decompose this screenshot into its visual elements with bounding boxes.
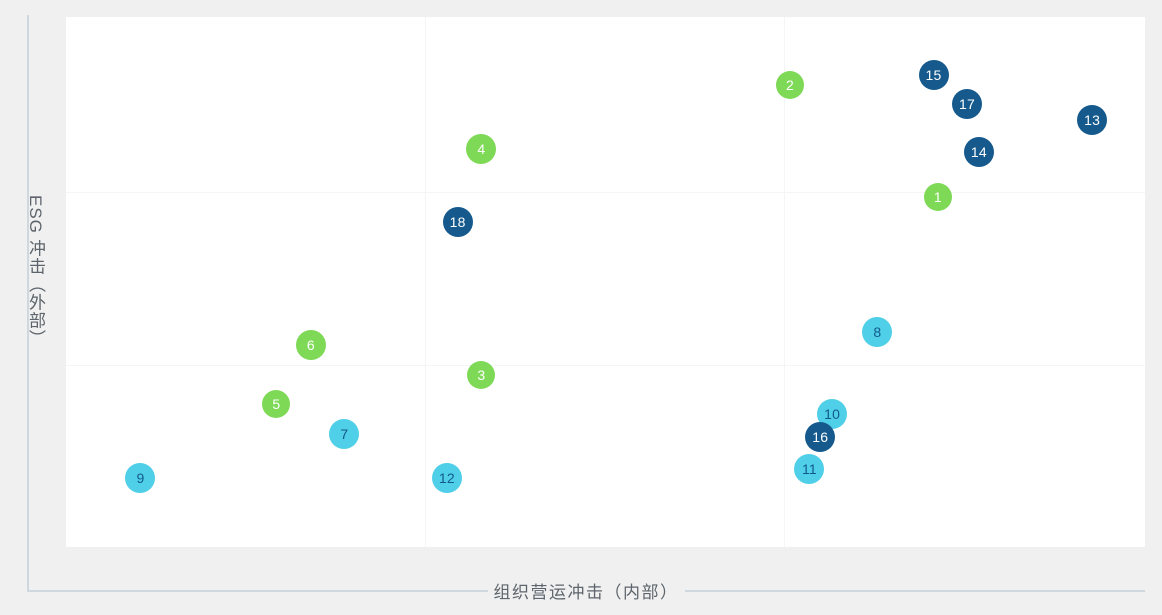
bubble-point[interactable]: 3 (467, 361, 495, 389)
bubble-point[interactable]: 16 (805, 422, 835, 452)
materiality-matrix-chart: 123456789101112131415161718 ESG 冲击（外部） 组… (0, 0, 1162, 615)
bubble-point[interactable]: 4 (466, 134, 496, 164)
plot-area: 123456789101112131415161718 (66, 17, 1145, 547)
bubble-point[interactable]: 12 (432, 463, 462, 493)
bubble-point[interactable]: 2 (776, 71, 804, 99)
bubble-point[interactable]: 17 (952, 89, 982, 119)
bubble-point[interactable]: 11 (794, 454, 824, 484)
bubble-point[interactable]: 9 (125, 463, 155, 493)
bubble-point[interactable]: 14 (964, 137, 994, 167)
bubble-point[interactable]: 7 (329, 419, 359, 449)
bubble-point[interactable]: 8 (862, 317, 892, 347)
gridline-horizontal-lower (66, 365, 1145, 366)
x-axis-label-wrapper: 组织营运冲击（内部） (27, 578, 1145, 603)
bubble-point[interactable]: 1 (924, 183, 952, 211)
x-axis-label: 组织营运冲击（内部） (488, 578, 685, 603)
gridline-vertical-left (425, 17, 426, 547)
bubble-point[interactable]: 18 (443, 207, 473, 237)
gridline-horizontal-upper (66, 192, 1145, 193)
y-axis-label: ESG 冲击（外部） (8, 195, 46, 348)
bubble-point[interactable]: 15 (919, 60, 949, 90)
bubble-point[interactable]: 6 (296, 330, 326, 360)
bubble-point[interactable]: 5 (262, 390, 290, 418)
bubble-point[interactable]: 13 (1077, 105, 1107, 135)
